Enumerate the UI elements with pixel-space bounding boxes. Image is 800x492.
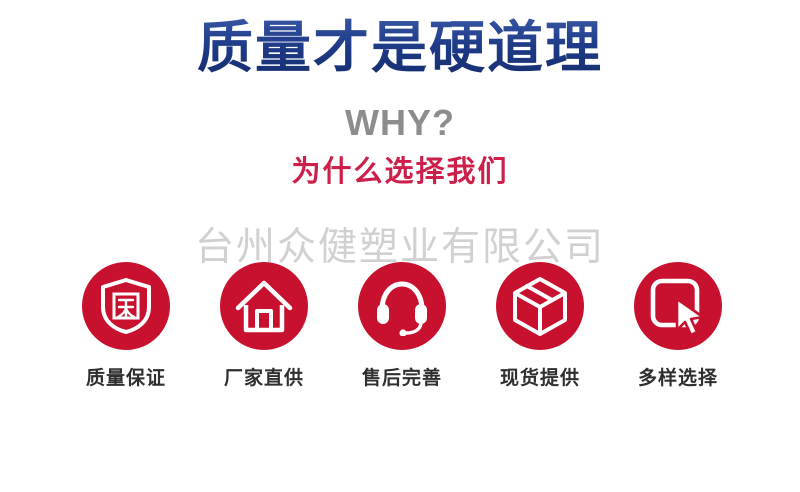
- feature-label: 现货提供: [500, 367, 580, 391]
- home-factory-icon: [234, 278, 294, 334]
- page-title: 质量才是硬道理: [0, 12, 800, 84]
- package-box-icon: [511, 276, 569, 336]
- feature-icon-circle: [220, 262, 308, 350]
- subtitle-text: 为什么选择我们: [0, 152, 800, 192]
- feature-label: 厂家直供: [224, 367, 304, 391]
- shield-quality-icon: [98, 277, 154, 335]
- promo-banner: 质量才是硬道理 WHY? 为什么选择我们 台州众健塑业有限公司 质量保证: [0, 0, 800, 492]
- feature-item-factory[interactable]: 厂家直供: [195, 262, 333, 391]
- feature-icon-circle: [82, 262, 170, 350]
- cursor-select-icon: [649, 277, 707, 335]
- feature-label: 质量保证: [86, 367, 166, 391]
- why-heading: WHY?: [0, 100, 800, 146]
- feature-list: 质量保证 厂家直供: [57, 262, 747, 391]
- feature-label: 多样选择: [638, 367, 718, 391]
- feature-item-variety[interactable]: 多样选择: [609, 262, 747, 391]
- feature-item-stock[interactable]: 现货提供: [471, 262, 609, 391]
- feature-label: 售后完善: [362, 367, 442, 391]
- feature-icon-circle: [634, 262, 722, 350]
- feature-icon-circle: [358, 262, 446, 350]
- headset-support-icon: [372, 276, 432, 336]
- feature-icon-circle: [496, 262, 584, 350]
- feature-item-support[interactable]: 售后完善: [333, 262, 471, 391]
- feature-item-quality[interactable]: 质量保证: [57, 262, 195, 391]
